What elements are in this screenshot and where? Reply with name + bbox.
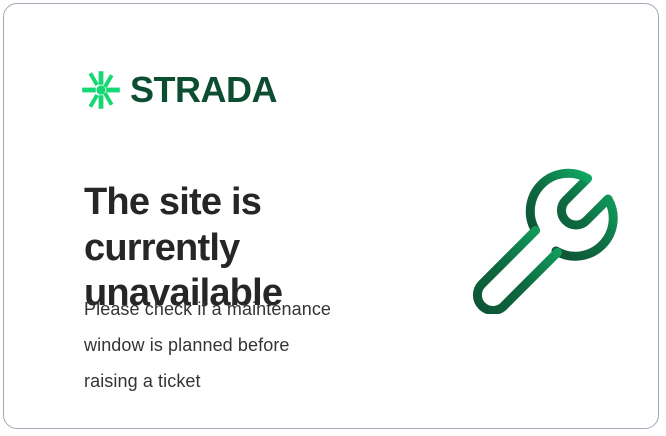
status-card: STRADA The site is currently unavailable… — [3, 3, 659, 429]
page-description: Please check if a maintenance window is … — [84, 291, 404, 399]
description-line: raising a ticket — [84, 363, 404, 399]
strada-asterisk-icon — [81, 70, 121, 110]
description-line: window is planned before — [84, 327, 404, 363]
wrench-icon — [459, 152, 621, 314]
brand-lockup: STRADA — [81, 70, 277, 110]
brand-wordmark: STRADA — [130, 72, 277, 108]
description-line: Please check if a maintenance — [84, 291, 404, 327]
page-root: STRADA The site is currently unavailable… — [0, 0, 666, 436]
